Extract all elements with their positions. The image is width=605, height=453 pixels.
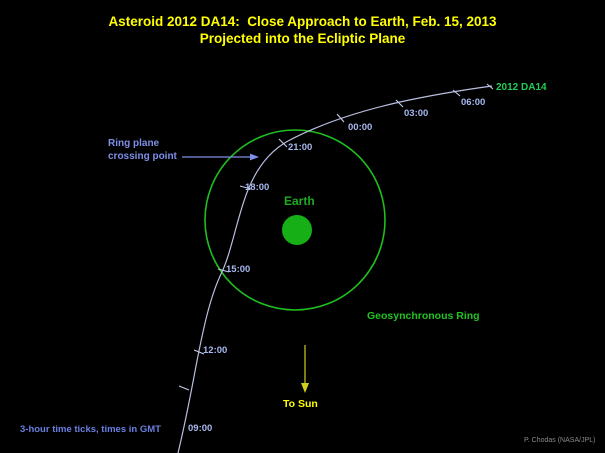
- tick-label-0900: 09:00: [188, 423, 212, 435]
- to-sun-label: To Sun: [283, 398, 318, 411]
- tick-label-0300: 03:00: [404, 108, 428, 120]
- tick-label-1200: 12:00: [203, 345, 227, 357]
- tick-0000: [337, 114, 344, 122]
- ring-plane-crossing-label-line2: crossing point: [108, 151, 177, 163]
- tick-label-0600: 06:00: [461, 97, 485, 109]
- tick-label-2100: 21:00: [288, 142, 312, 154]
- tick-2100: [279, 139, 287, 147]
- tick-label-1500: 15:00: [226, 264, 250, 276]
- ring-plane-crossing-label-line1: Ring plane: [108, 138, 159, 150]
- tick-label-0000: 00:00: [348, 122, 372, 134]
- time-ticks-note: 3-hour time ticks, times in GMT: [20, 424, 161, 436]
- figure-title-line2: Projected into the Ecliptic Plane: [0, 31, 605, 47]
- tick-0300: [396, 100, 403, 107]
- geosynchronous-ring-circle: [205, 130, 385, 310]
- diagram-graphics: [0, 0, 605, 453]
- credit-label: P. Chodas (NASA/JPL): [524, 437, 595, 446]
- geosynchronous-ring-label: Geosynchronous Ring: [367, 310, 480, 323]
- to-sun-arrow: [301, 345, 309, 393]
- tick-0600: [453, 90, 460, 96]
- tick-0900: [179, 386, 189, 390]
- tick-end: [487, 84, 493, 89]
- earth-label: Earth: [284, 194, 315, 209]
- figure-title-line1: Asteroid 2012 DA14: Close Approach to Ea…: [0, 14, 605, 30]
- figure-canvas: Asteroid 2012 DA14: Close Approach to Ea…: [0, 0, 605, 453]
- asteroid-name-label: 2012 DA14: [496, 82, 547, 94]
- tick-label-1800: 18:00: [245, 182, 269, 194]
- earth-disc: [282, 215, 312, 245]
- ring-plane-crossing-arrow: [182, 154, 259, 161]
